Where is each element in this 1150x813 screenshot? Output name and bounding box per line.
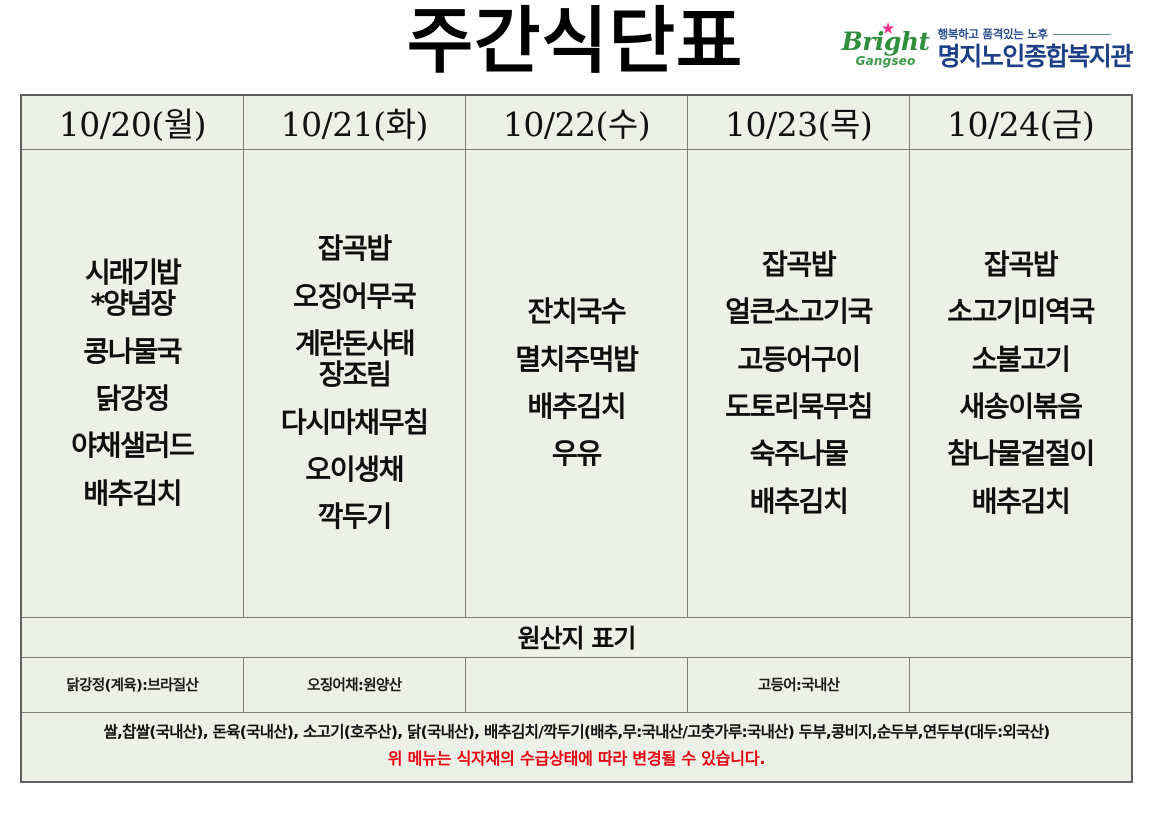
weekly-meal-plan-page: 주간식단표 Bright Gangseo 행복하고 품격있는 노후 명지노인종합…: [0, 0, 1150, 813]
menu-item: 우유: [552, 438, 601, 469]
menu-item: 닭강정: [96, 383, 169, 414]
menu-item: 잡곡밥: [318, 233, 391, 264]
menu-item: 숙주나물: [750, 438, 848, 469]
organization-name: 명지노인종합복지관: [938, 44, 1132, 69]
menu-item: 다시마채무침: [281, 407, 428, 438]
menu-item: 콩나물국: [83, 336, 181, 367]
menu-row: 시래기밥 *양념장콩나물국닭강정야채샐러드배추김치 잡곡밥오징어무국계란돈사태 …: [21, 149, 1132, 617]
menu-cell-wednesday: 잔치국수멸치주먹밥배추김치우유: [465, 149, 687, 617]
menu-list-monday: 시래기밥 *양념장콩나물국닭강정야채샐러드배추김치: [24, 162, 241, 605]
menu-item: 고등어구이: [738, 344, 860, 375]
date-header-monday: 10/20(월): [21, 95, 243, 149]
origin-cell-thursday: 고등어:국내산: [688, 657, 910, 712]
menu-item: 야채샐러드: [71, 430, 193, 461]
menu-list-tuesday: 잡곡밥오징어무국계란돈사태 장조림다시마채무침오이생채깍두기: [246, 162, 463, 605]
menu-list-friday: 잡곡밥소고기미역국소불고기새송이볶음참나물겉절이배추김치: [912, 162, 1129, 605]
origin-cell-tuesday: 오징어채:원양산: [243, 657, 465, 712]
menu-item: 새송이볶음: [959, 391, 1081, 422]
gangseo-wordmark: Gangseo: [856, 55, 916, 67]
menu-item: 참나물겉절이: [947, 438, 1094, 469]
menu-item: 잡곡밥: [762, 249, 835, 280]
logo-tagline: 행복하고 품격있는 노후: [938, 26, 1048, 42]
menu-item: 오징어무국: [293, 281, 415, 312]
menu-item: 소고기미역국: [947, 296, 1094, 327]
menu-item: 배추김치: [528, 391, 626, 422]
notes-row: 쌀,찹쌀(국내산), 돈육(국내산), 소고기(호주산), 닭(국내산), 배추…: [21, 712, 1132, 782]
origin-summary-note: 쌀,찹쌀(국내산), 돈육(국내산), 소고기(호주산), 닭(국내산), 배추…: [26, 721, 1127, 743]
notes-cell: 쌀,찹쌀(국내산), 돈육(국내산), 소고기(호주산), 닭(국내산), 배추…: [21, 712, 1132, 782]
origin-cell-wednesday: [465, 657, 687, 712]
menu-item: 계란돈사태 장조림: [295, 328, 413, 391]
menu-item: 배추김치: [83, 478, 181, 509]
menu-item: 오이생채: [305, 454, 403, 485]
menu-item: 도토리묵무침: [725, 391, 872, 422]
origin-cell-monday: 닭강정(계육):브라질산: [21, 657, 243, 712]
menu-item: 배추김치: [972, 486, 1070, 517]
origin-detail-row: 닭강정(계육):브라질산 오징어채:원양산 고등어:국내산: [21, 657, 1132, 712]
menu-list-wednesday: 잔치국수멸치주먹밥배추김치우유: [468, 162, 685, 605]
menu-cell-tuesday: 잡곡밥오징어무국계란돈사태 장조림다시마채무침오이생채깍두기: [243, 149, 465, 617]
weekly-menu-table: 10/20(월) 10/21(화) 10/22(수) 10/23(목) 10/2…: [20, 94, 1133, 783]
tagline-rule: [1053, 34, 1111, 35]
date-header-friday: 10/24(금): [910, 95, 1132, 149]
date-header-wednesday: 10/22(수): [465, 95, 687, 149]
menu-item: 멸치주먹밥: [515, 344, 637, 375]
menu-item: 잔치국수: [528, 296, 626, 327]
menu-item: 시래기밥 *양념장: [85, 257, 180, 320]
origin-banner-row: 원산지 표기: [21, 617, 1132, 657]
menu-cell-monday: 시래기밥 *양념장콩나물국닭강정야채샐러드배추김치: [21, 149, 243, 617]
page-header: 주간식단표 Bright Gangseo 행복하고 품격있는 노후 명지노인종합…: [0, 0, 1150, 92]
menu-list-thursday: 잡곡밥얼큰소고기국고등어구이도토리묵무침숙주나물배추김치: [690, 162, 907, 605]
origin-cell-friday: [910, 657, 1132, 712]
bright-logo-mark: Bright Gangseo: [842, 29, 930, 69]
menu-cell-thursday: 잡곡밥얼큰소고기국고등어구이도토리묵무침숙주나물배추김치: [688, 149, 910, 617]
menu-cell-friday: 잡곡밥소고기미역국소불고기새송이볶음참나물겉절이배추김치: [910, 149, 1132, 617]
menu-item: 얼큰소고기국: [725, 296, 872, 327]
organization-logo: Bright Gangseo 행복하고 품격있는 노후 명지노인종합복지관: [842, 26, 1132, 69]
menu-item: 잡곡밥: [984, 249, 1057, 280]
date-header-tuesday: 10/21(화): [243, 95, 465, 149]
tagline-row: 행복하고 품격있는 노후: [938, 26, 1111, 42]
menu-change-warning: 위 메뉴는 식자재의 수급상태에 따라 변경될 수 있습니다.: [26, 747, 1127, 771]
menu-item: 소불고기: [972, 344, 1070, 375]
organization-text: 행복하고 품격있는 노후 명지노인종합복지관: [938, 26, 1132, 69]
menu-item: 깍두기: [318, 501, 391, 532]
menu-item: 배추김치: [750, 486, 848, 517]
date-header-row: 10/20(월) 10/21(화) 10/22(수) 10/23(목) 10/2…: [21, 95, 1132, 149]
date-header-thursday: 10/23(목): [688, 95, 910, 149]
origin-banner-label: 원산지 표기: [21, 617, 1132, 657]
